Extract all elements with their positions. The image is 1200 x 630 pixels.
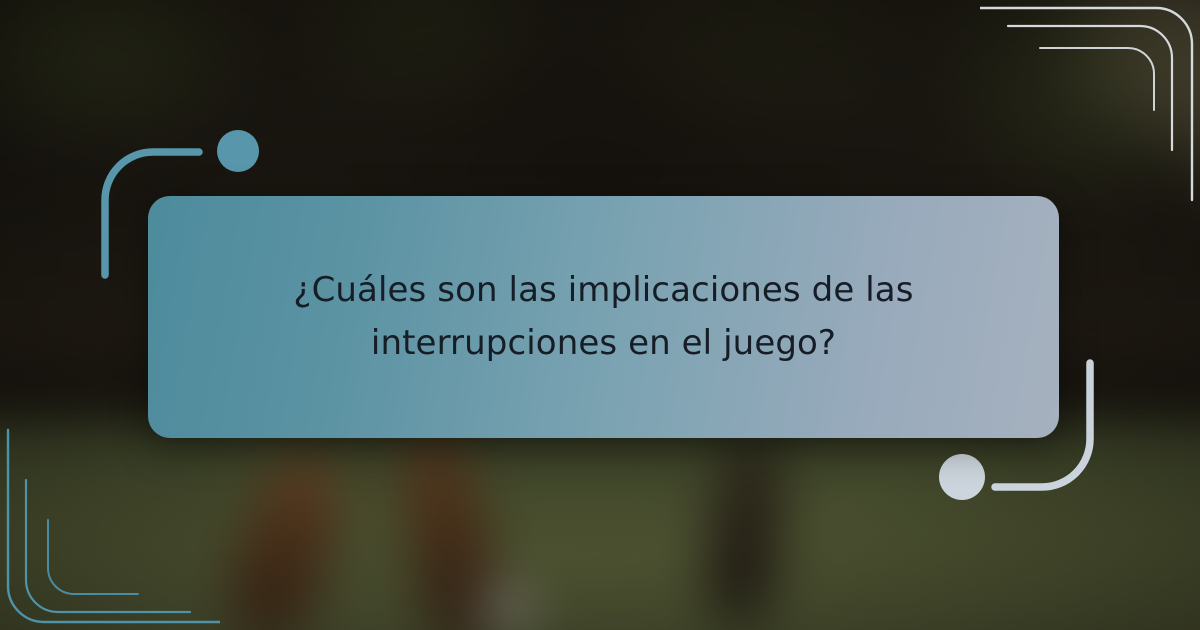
poster-canvas: ¿Cuáles son las implicaciones de las int… — [0, 0, 1200, 630]
dot-teal-icon — [217, 130, 259, 172]
question-card: ¿Cuáles son las implicaciones de las int… — [148, 196, 1059, 438]
question-text: ¿Cuáles son las implicaciones de las int… — [284, 264, 924, 369]
corner-lines-top-right-icon — [980, 0, 1200, 210]
corner-lines-bottom-left-icon — [0, 420, 220, 630]
dot-white-icon — [939, 454, 985, 500]
